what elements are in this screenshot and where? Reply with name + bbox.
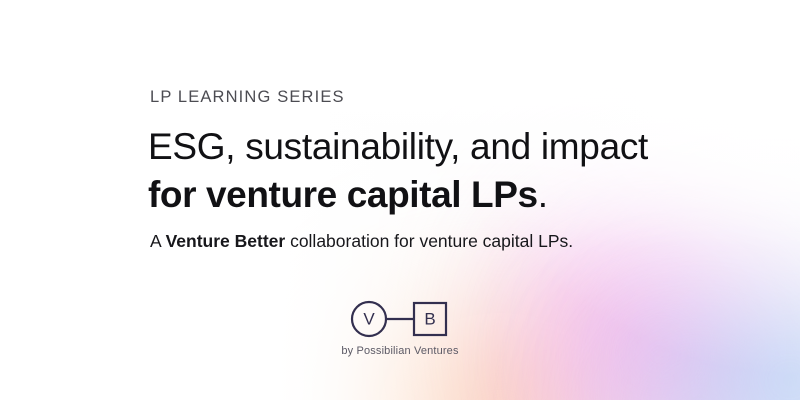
subtitle-prefix: A — [150, 231, 166, 251]
possibilian-ventures-logo-mark: V B — [348, 298, 452, 340]
logo-letter-b: B — [424, 310, 435, 329]
logo-letter-v: V — [363, 310, 375, 329]
headline-line-1: ESG, sustainability, and impact — [148, 123, 648, 171]
headline-period: . — [538, 174, 548, 215]
page-title: ESG, sustainability, and impact for vent… — [148, 123, 648, 219]
logo: V B by Possibilian Ventures — [0, 298, 800, 357]
subtitle-brand: Venture Better — [166, 231, 286, 251]
subtitle: A Venture Better collaboration for ventu… — [150, 231, 573, 252]
logo-caption: by Possibilian Ventures — [341, 345, 458, 357]
headline-line-2: for venture capital LPs — [148, 174, 538, 215]
subtitle-suffix: collaboration for venture capital LPs. — [285, 231, 573, 251]
eyebrow-label: LP LEARNING SERIES — [150, 88, 345, 107]
slide-canvas: LP LEARNING SERIES ESG, sustainability, … — [0, 0, 800, 400]
headline-line-2-wrapper: for venture capital LPs. — [148, 171, 648, 219]
